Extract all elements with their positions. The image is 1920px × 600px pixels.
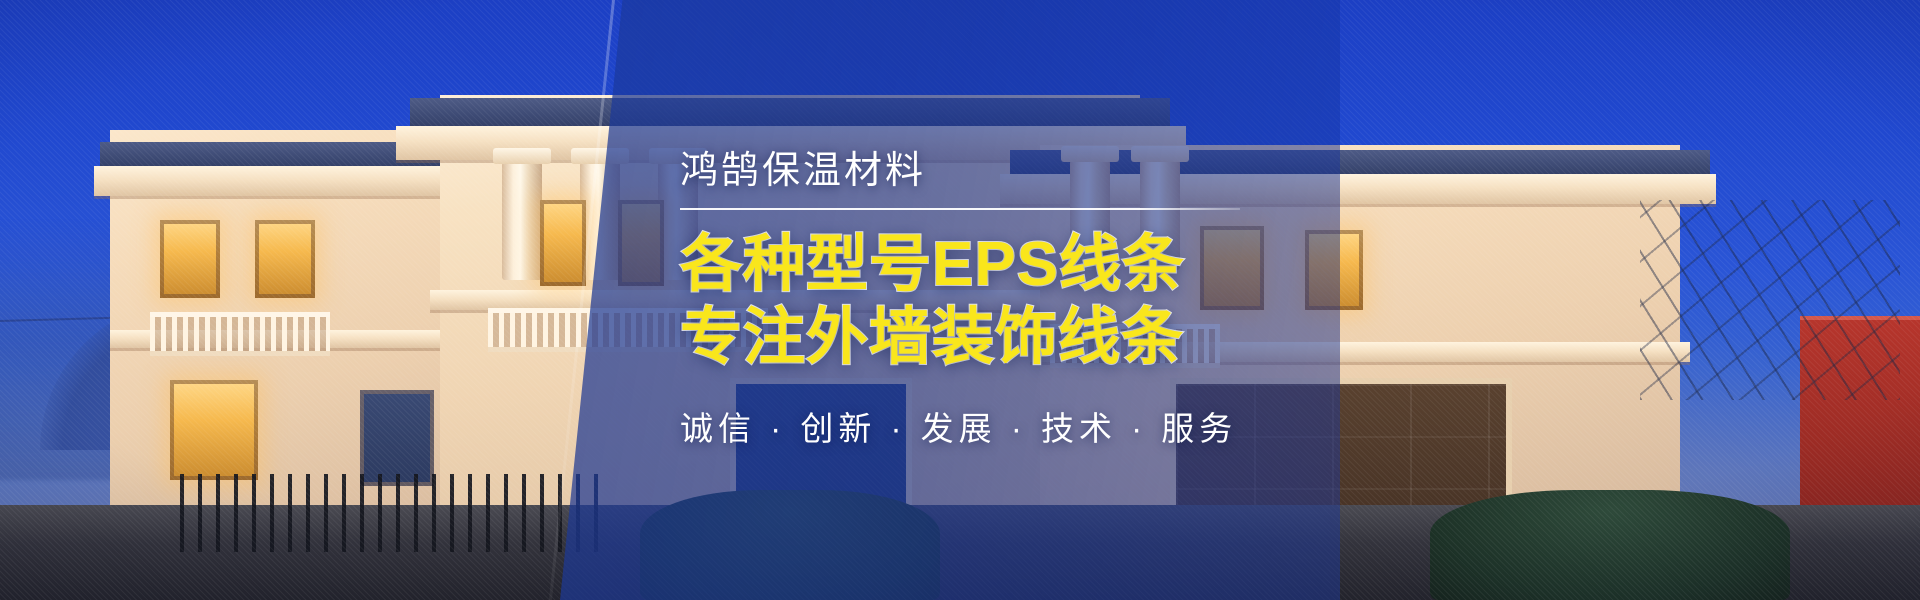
hero-banner: 鸿鹄保温材料 各种型号EPS线条 专注外墙装饰线条 诚信 · 创新 · 发展 ·… <box>0 0 1920 600</box>
hedge <box>1430 490 1790 600</box>
headline-line-1: 各种型号EPS线条 <box>680 232 1240 299</box>
tree-branches <box>1640 200 1900 400</box>
headline-line-2: 专注外墙装饰线条 <box>680 305 1240 372</box>
tagline: 诚信 · 创新 · 发展 · 技术 · 服务 <box>680 402 1240 450</box>
window-lit <box>255 220 315 298</box>
column <box>502 162 542 280</box>
window-lit <box>160 220 220 298</box>
window-lit <box>540 200 586 286</box>
window-lit <box>170 380 258 480</box>
balustrade <box>150 312 330 356</box>
brand-name: 鸿鹄保温材料 <box>680 150 1240 194</box>
window-dark <box>360 390 434 486</box>
brand-divider <box>680 208 1240 210</box>
iron-fence <box>180 474 600 552</box>
column-capital <box>493 148 551 164</box>
